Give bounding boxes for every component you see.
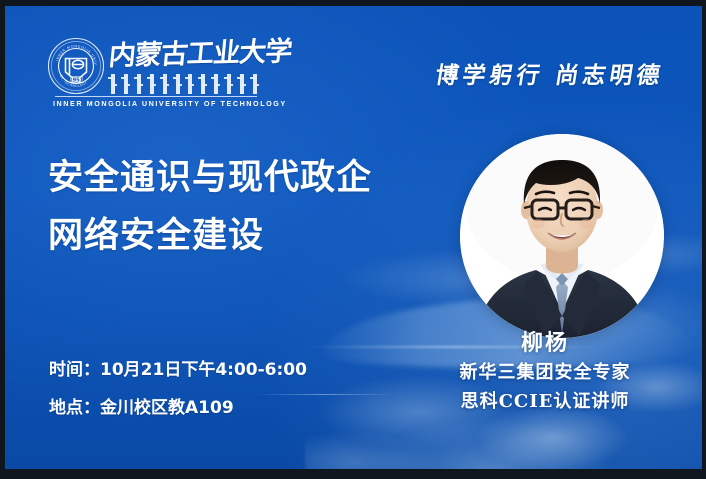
mongolian-glyph <box>214 74 218 94</box>
mongolian-glyph <box>253 74 257 94</box>
mongolian-glyph <box>176 74 180 94</box>
event-time: 时间：10月21日下午4:00-6:00 <box>49 351 307 389</box>
mongolian-glyph <box>240 74 244 94</box>
title-line-1: 安全通识与现代政企 <box>48 149 372 207</box>
mongolian-glyph <box>227 74 231 94</box>
svg-text:1951: 1951 <box>69 77 84 83</box>
frame-edge-bottom <box>0 469 706 479</box>
poster-title: 安全通识与现代政企 网络安全建设 <box>48 149 372 265</box>
mongolian-glyph <box>150 74 154 94</box>
svg-text:INNER MONGOLIA UNIV: INNER MONGOLIA UNIV <box>55 44 97 65</box>
logo-divider <box>55 96 257 97</box>
speaker-portrait <box>460 134 664 338</box>
mongolian-glyph <box>163 74 167 94</box>
frame-edge-right <box>702 0 706 479</box>
university-name-cn: 内蒙古工业大学 <box>107 32 259 78</box>
mongolian-glyph <box>201 74 205 94</box>
title-line-2: 网络安全建设 <box>48 207 372 265</box>
poster-canvas: 1951 INNER MONGOLIA UNIV OF TECHNOLOGY 内… <box>5 6 702 469</box>
speaker-caption: 柳杨 新华三集团安全专家 思科CCIE认证讲师 <box>415 328 675 416</box>
mongolian-glyph <box>188 74 192 94</box>
university-name-en: INNER MONGOLIA UNIVERSITY OF TECHNOLOGY <box>53 99 259 108</box>
speaker-role-1: 新华三集团安全专家 <box>415 358 675 387</box>
university-motto: 博学躬行 尚志明德 <box>433 56 666 90</box>
university-name-mongolian <box>111 74 257 96</box>
event-info: 时间：10月21日下午4:00-6:00 地点：金川校区教A109 <box>49 351 307 427</box>
speaker-role-2: 思科CCIE认证讲师 <box>415 387 675 416</box>
university-logo: 1951 INNER MONGOLIA UNIV OF TECHNOLOGY 内… <box>47 34 257 116</box>
speaker-name: 柳杨 <box>415 328 675 358</box>
lecture-poster: 1951 INNER MONGOLIA UNIV OF TECHNOLOGY 内… <box>0 0 706 479</box>
speaker-portrait-photo <box>460 134 664 338</box>
event-location: 地点：金川校区教A109 <box>49 389 307 427</box>
university-emblem-icon: 1951 INNER MONGOLIA UNIV OF TECHNOLOGY <box>47 37 105 95</box>
